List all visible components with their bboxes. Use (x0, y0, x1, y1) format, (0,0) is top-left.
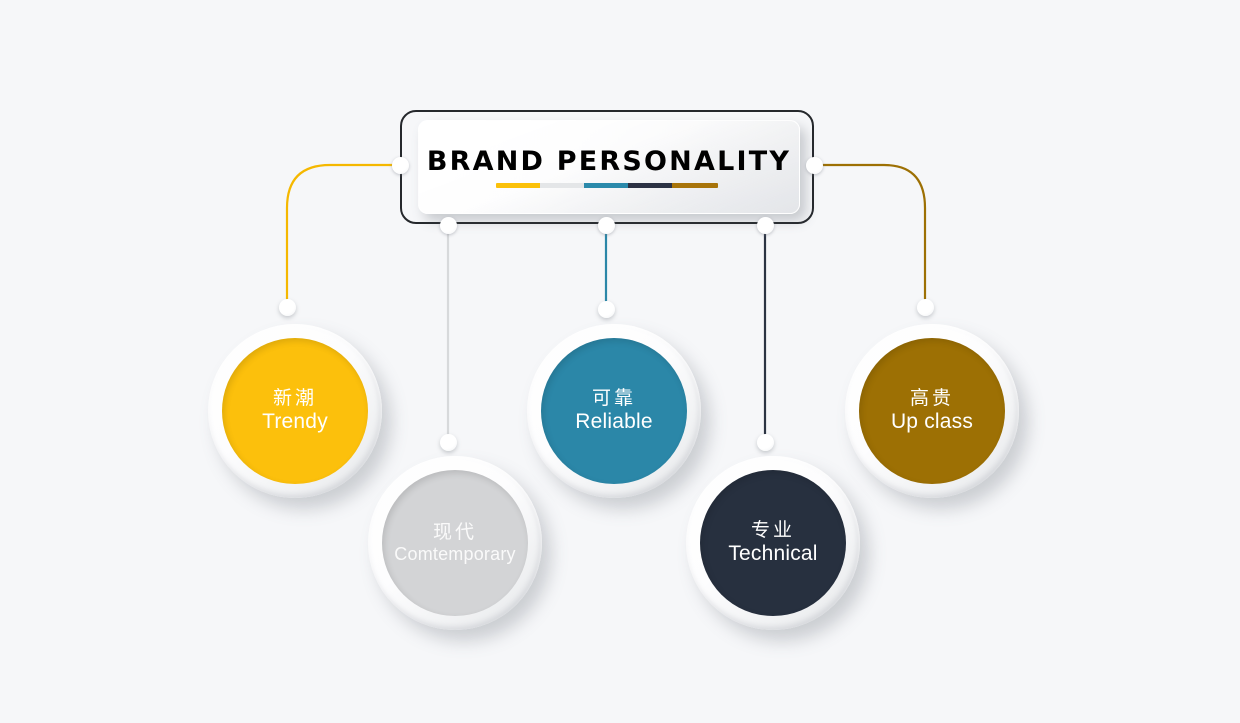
node-technical[interactable]: 专业Technical (700, 470, 846, 616)
node-label-en-trendy: Trendy (262, 410, 328, 435)
comtemporary-accent (540, 183, 584, 188)
tip-comtemporary (440, 434, 457, 451)
tip-upclass (917, 299, 934, 316)
node-label-cn-reliable: 可靠 (592, 387, 636, 409)
dot-left (392, 157, 409, 174)
node-label-trendy: 新潮Trendy (222, 338, 368, 484)
trendy-accent (496, 183, 540, 188)
node-label-comtemporary: 现代Comtemporary (382, 470, 528, 616)
page-title: BRAND PERSONALITY (418, 146, 800, 177)
dot-bottom-reliable (598, 217, 615, 234)
tip-technical (757, 434, 774, 451)
upclass-accent (672, 183, 718, 188)
technical-accent (628, 183, 672, 188)
dot-bottom-technical (757, 217, 774, 234)
node-comtemporary[interactable]: 现代Comtemporary (382, 470, 528, 616)
node-label-cn-trendy: 新潮 (273, 387, 317, 409)
node-label-en-upclass: Up class (891, 410, 973, 435)
node-trendy[interactable]: 新潮Trendy (222, 338, 368, 484)
node-reliable[interactable]: 可靠Reliable (541, 338, 687, 484)
node-label-en-reliable: Reliable (575, 410, 652, 435)
accent-bar (496, 183, 718, 188)
node-label-en-technical: Technical (728, 542, 817, 567)
node-label-upclass: 高贵Up class (859, 338, 1005, 484)
node-label-reliable: 可靠Reliable (541, 338, 687, 484)
tip-reliable (598, 301, 615, 318)
dot-right (806, 157, 823, 174)
node-label-technical: 专业Technical (700, 470, 846, 616)
trendy-connector (287, 165, 400, 300)
reliable-accent (584, 183, 628, 188)
tip-trendy (279, 299, 296, 316)
node-label-cn-comtemporary: 现代 (433, 521, 477, 543)
dot-bottom-comtemporary (440, 217, 457, 234)
upclass-connector (814, 165, 925, 300)
node-label-cn-technical: 专业 (751, 519, 795, 541)
diagram-canvas: BRAND PERSONALITY 新潮Trendy现代Comtemporary… (0, 0, 1240, 723)
node-label-cn-upclass: 高贵 (910, 387, 954, 409)
node-upclass[interactable]: 高贵Up class (859, 338, 1005, 484)
node-label-en-comtemporary: Comtemporary (394, 544, 515, 565)
